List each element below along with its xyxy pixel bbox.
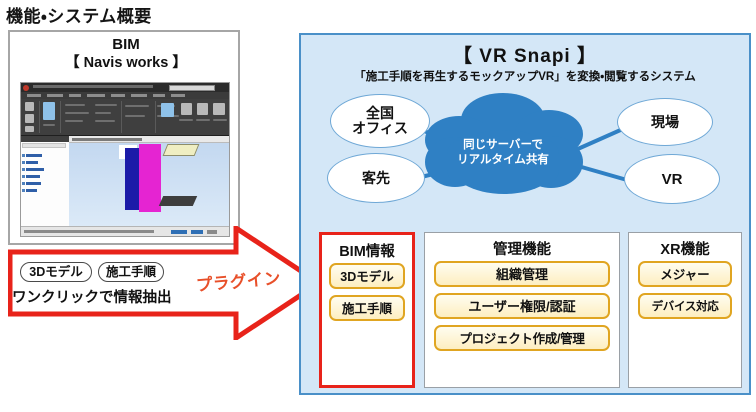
node-zenkoku-office[interactable]: 全国 オフィス <box>330 94 430 148</box>
navis-ribbon-tabs <box>21 92 229 99</box>
node-kyakusaki-label: 客先 <box>362 171 390 186</box>
cloud-shape <box>425 93 583 194</box>
feature-box-bim-info: BIM情報 3Dモデル 施工手順 <box>319 232 415 388</box>
extract-tag-3dmodel[interactable]: 3Dモデル <box>20 262 92 282</box>
feature-box-xr: XR機能 メジャー デバイス対応 <box>628 232 742 388</box>
sharing-diagram: 同じサーバーで リアルタイム共有 全国 オフィス 客先 現場 VR <box>299 90 751 225</box>
navis-selection-tree <box>21 136 70 227</box>
navis-3d-viewport <box>69 136 229 229</box>
extract-tag-construction-steps[interactable]: 施工手順 <box>98 262 164 282</box>
navis-titlebar <box>21 83 229 92</box>
feature-box-management-items: 組織管理 ユーザー権限/認証 プロジェクト作成/管理 <box>425 261 619 357</box>
feature-box-xr-items: メジャー デバイス対応 <box>629 261 741 325</box>
node-zenkoku-office-line1: 全国 <box>352 106 408 121</box>
navis-search-box <box>169 85 215 91</box>
feature-item-project-create-manage[interactable]: プロジェクト作成/管理 <box>434 325 610 351</box>
navis-ribbon <box>21 99 229 136</box>
feature-box-bim-info-items: 3Dモデル 施工手順 <box>322 263 412 327</box>
page-title: 機能・システム概要 <box>6 2 152 27</box>
navis-body <box>21 136 229 227</box>
vr-snapi-title: 【 VR Snapi 】 <box>301 41 749 68</box>
bim-card-title-line2: 【 Navis works 】 <box>10 54 242 72</box>
feature-box-bim-info-title: BIM情報 <box>322 240 412 261</box>
diagram-canvas: 機能・システム概要 BIM 【 Navis works 】 <box>0 0 756 412</box>
node-vr[interactable]: VR <box>624 154 720 204</box>
vr-snapi-subtitle: 「施工手順を再生するモックアップVR」を変換・閲覧するシステム <box>301 68 749 84</box>
navisworks-screenshot <box>20 82 230 237</box>
feature-item-3dmodel[interactable]: 3Dモデル <box>329 263 405 289</box>
node-vr-label: VR <box>662 172 683 187</box>
feature-item-device-support[interactable]: デバイス対応 <box>638 293 732 319</box>
feature-item-user-permission-auth[interactable]: ユーザー権限/認証 <box>434 293 610 319</box>
node-genba-label: 現場 <box>651 115 679 130</box>
feature-box-management: 管理機能 組織管理 ユーザー権限/認証 プロジェクト作成/管理 <box>424 232 620 388</box>
bim-card-title-line1: BIM <box>10 36 242 54</box>
node-zenkoku-office-line2: オフィス <box>352 121 408 136</box>
feature-item-org-management[interactable]: 組織管理 <box>434 261 610 287</box>
feature-item-measure[interactable]: メジャー <box>638 261 732 287</box>
node-genba[interactable]: 現場 <box>617 98 713 146</box>
extract-caption: ワンクリックで情報抽出 <box>12 286 172 307</box>
feature-item-construction-steps[interactable]: 施工手順 <box>329 295 405 321</box>
bim-card: BIM 【 Navis works 】 <box>8 30 240 245</box>
feature-box-management-title: 管理機能 <box>425 238 619 259</box>
feature-box-xr-title: XR機能 <box>629 238 741 259</box>
navis-title-text <box>33 85 153 88</box>
bim-card-title: BIM 【 Navis works 】 <box>10 36 242 72</box>
navis-app-orb-icon <box>23 85 29 91</box>
node-kyakusaki[interactable]: 客先 <box>327 153 425 203</box>
